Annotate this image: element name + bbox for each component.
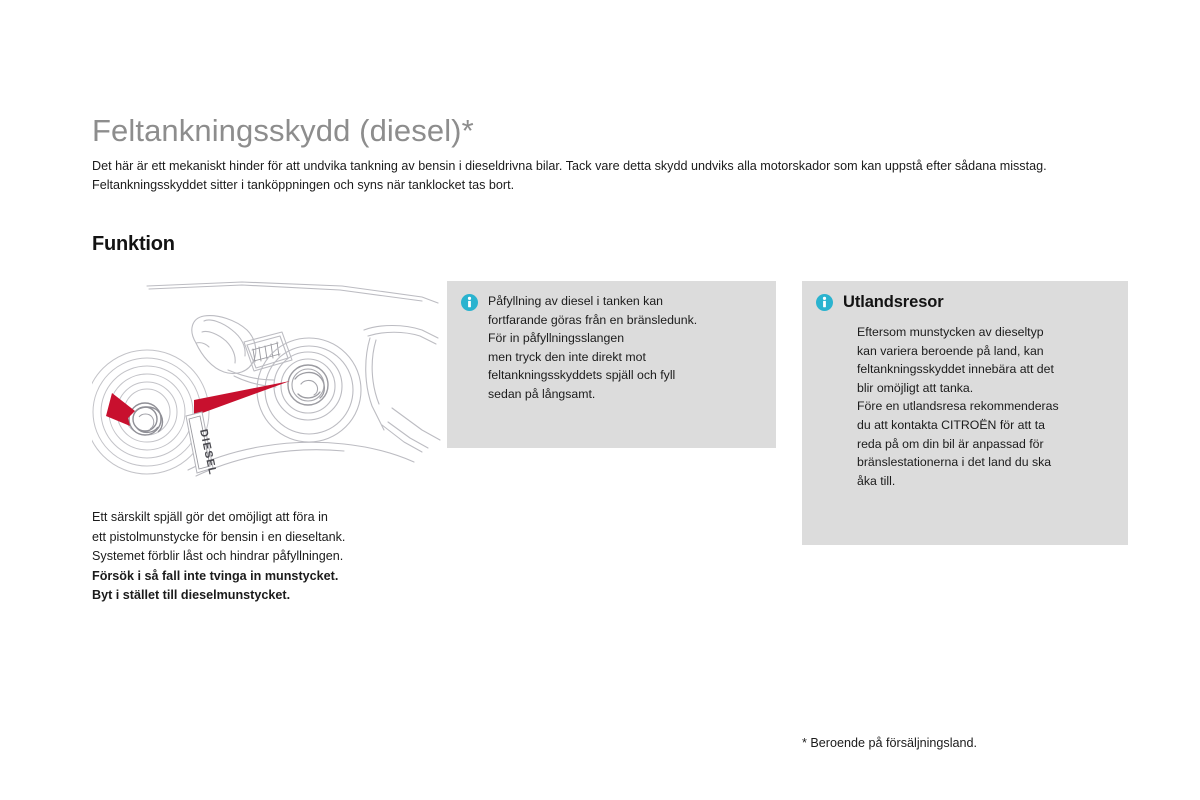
info-icon <box>461 294 478 311</box>
travel-line-5: Före en utlandsresa rekommenderas <box>857 397 1112 416</box>
note-line-5: feltankningsskyddets spjäll och fyll <box>488 366 697 385</box>
note-line-6: sedan på långsamt. <box>488 385 697 404</box>
utlandsresor-panel: Utlandsresor Eftersom munstycken av dies… <box>802 281 1128 545</box>
fuel-filler-diagram: DIESEL <box>92 280 442 505</box>
utlandsresor-text: Eftersom munstycken av dieseltyp kan var… <box>857 323 1112 490</box>
travel-line-6: du att kontakta CITROËN för att ta <box>857 416 1112 435</box>
travel-line-9: åka till. <box>857 472 1112 491</box>
note-line-3: För in påfyllningsslangen <box>488 329 697 348</box>
info-note-panel: Påfyllning av diesel i tanken kan fortfa… <box>447 281 776 448</box>
caption-line-5: Byt i stället till dieselmunstycket. <box>92 586 452 606</box>
figure-caption: Ett särskilt spjäll gör det omöjligt att… <box>92 508 452 606</box>
note-line-2: fortfarande göras från en bränsledunk. <box>488 311 697 330</box>
footnote: * Beroende på försäljningsland. <box>802 734 977 752</box>
travel-line-1: Eftersom munstycken av dieseltyp <box>857 323 1112 342</box>
travel-line-4: blir omöjligt att tanka. <box>857 379 1112 398</box>
info-icon <box>816 294 833 311</box>
travel-line-2: kan variera beroende på land, kan <box>857 342 1112 361</box>
section-title-funktion: Funktion <box>92 233 175 256</box>
travel-line-7: reda på om din bil är anpassad för <box>857 435 1112 454</box>
caption-line-1: Ett särskilt spjäll gör det omöjligt att… <box>92 508 452 528</box>
note-line-1: Påfyllning av diesel i tanken kan <box>488 292 697 311</box>
page-title: Feltankningsskydd (diesel)* <box>92 112 474 150</box>
caption-line-3: Systemet förblir låst och hindrar påfyll… <box>92 547 452 567</box>
travel-line-3: feltankningsskyddet innebära att det <box>857 360 1112 379</box>
fuel-filler-illustration: DIESEL <box>92 280 442 505</box>
manual-page: Feltankningsskydd (diesel)* Det här är e… <box>0 0 1200 800</box>
intro-line-1: Det här är ett mekaniskt hinder för att … <box>92 157 1122 176</box>
caption-line-4: Försök i så fall inte tvinga in munstyck… <box>92 567 452 587</box>
intro-text: Det här är ett mekaniskt hinder för att … <box>92 157 1122 194</box>
note-line-4: men tryck den inte direkt mot <box>488 348 697 367</box>
info-note-text: Påfyllning av diesel i tanken kan fortfa… <box>488 292 697 404</box>
travel-line-8: bränslestationerna i det land du ska <box>857 453 1112 472</box>
utlandsresor-heading: Utlandsresor <box>843 292 944 312</box>
callout-wedge <box>194 381 290 416</box>
intro-line-2: Feltankningsskyddet sitter i tanköppning… <box>92 176 1122 195</box>
caption-line-2: ett pistolmunstycke för bensin i en dies… <box>92 528 452 548</box>
